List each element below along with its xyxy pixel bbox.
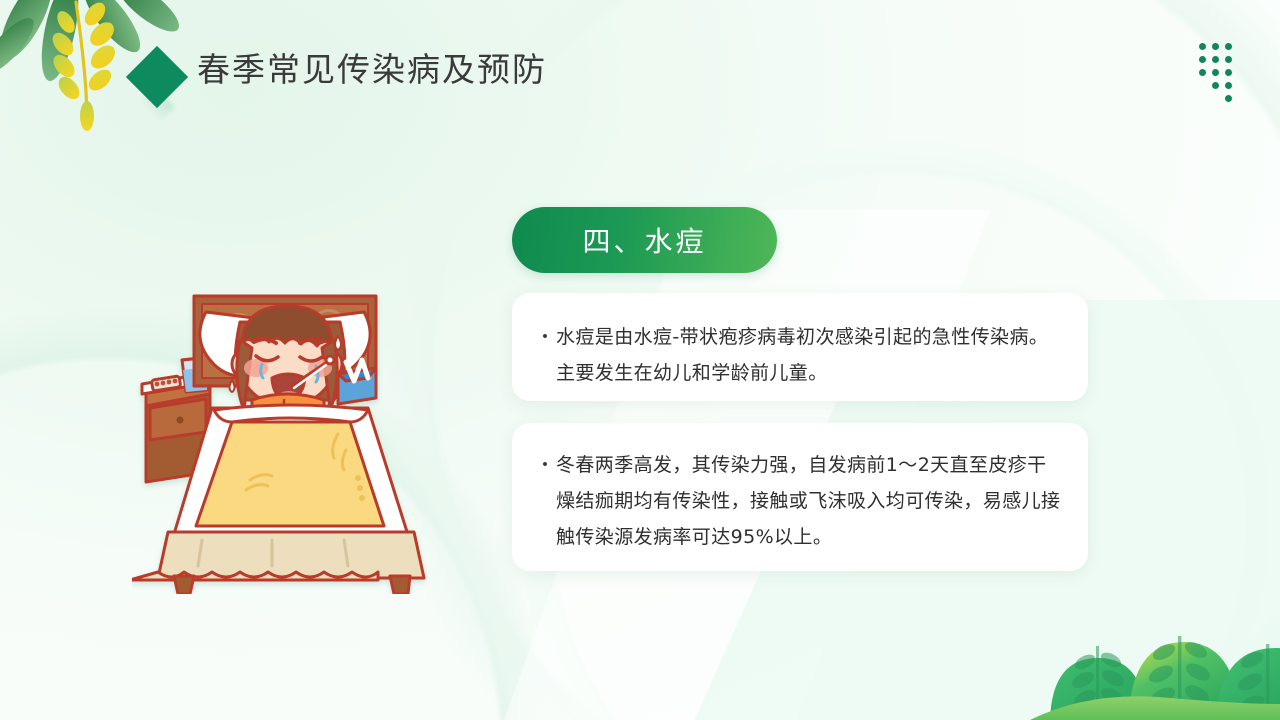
card-text: 冬春两季高发，其传染力强，自发病前1～2天直至皮疹干燥结痂期均有传染性，接触或飞…	[556, 447, 1062, 555]
content-card: • 冬春两季高发，其传染力强，自发病前1～2天直至皮疹干燥结痂期均有传染性，接触…	[512, 423, 1088, 571]
slide-header: 春季常见传染病及预防	[0, 0, 1280, 136]
content-card: • 水痘是由水痘-带状疱疹病毒初次感染引起的急性传染病。主要发生在幼儿和学龄前儿…	[512, 293, 1088, 401]
sick-girl-in-bed-illustration	[132, 282, 442, 594]
section-title-label: 四、水痘	[582, 220, 706, 260]
bullet-marker: •	[534, 447, 556, 483]
card-text: 水痘是由水痘-带状疱疹病毒初次感染引起的急性传染病。主要发生在幼儿和学龄前儿童。	[556, 319, 1058, 391]
diamond-icon	[126, 46, 188, 108]
bushes-decoration	[1030, 590, 1280, 720]
bullet-marker: •	[534, 319, 556, 355]
slide-canvas: 春季常见传染病及预防 四、水痘 • 水痘是由水痘-带状疱疹病毒初次感染引起的急性…	[0, 0, 1280, 720]
dot-matrix-decoration	[1199, 43, 1239, 99]
section-title-pill: 四、水痘	[512, 207, 777, 273]
page-title: 春季常见传染病及预防	[197, 48, 547, 92]
